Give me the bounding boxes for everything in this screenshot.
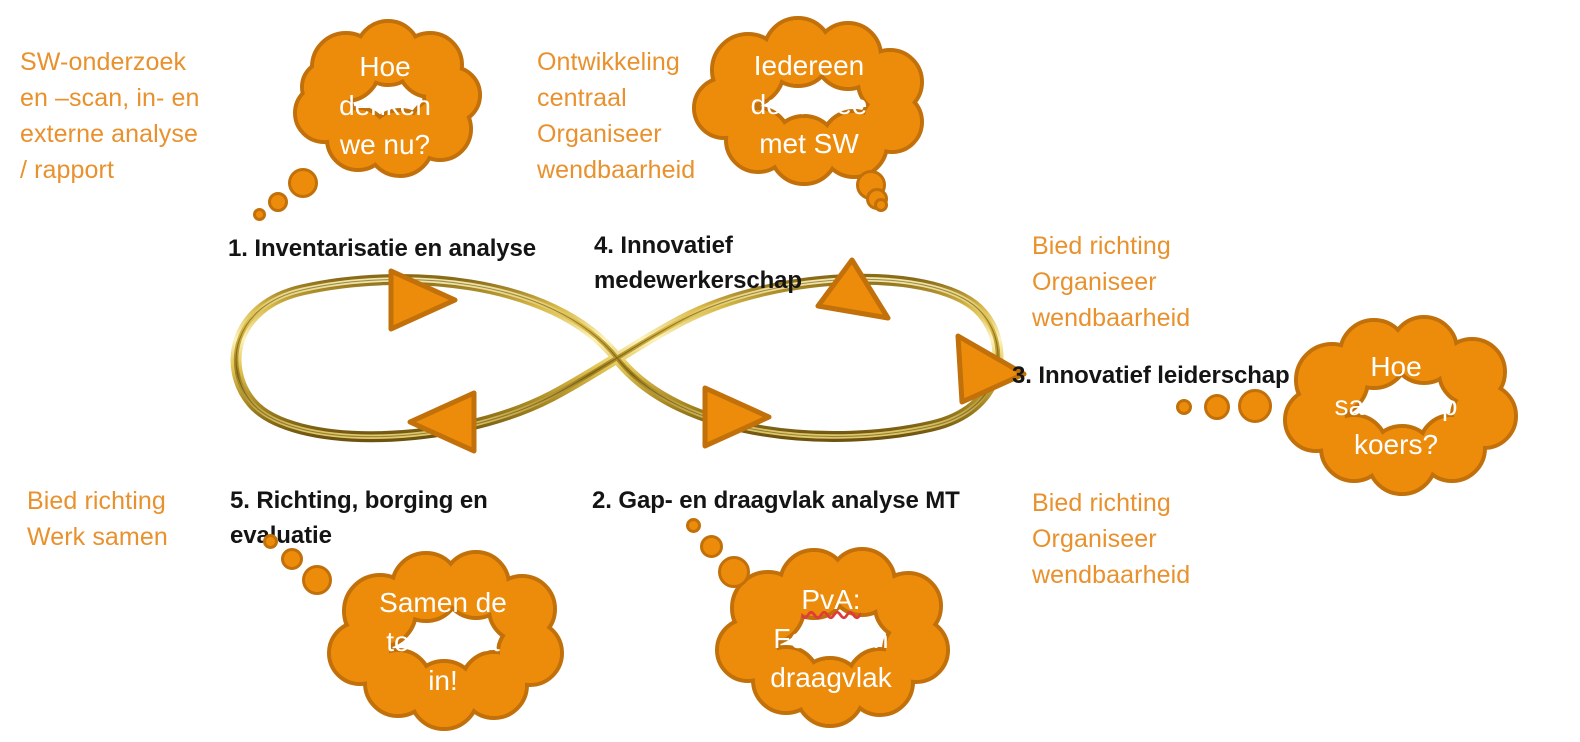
- thought-tail-dot-small: [263, 534, 278, 549]
- thought-tail-dot-medium: [700, 535, 723, 558]
- thought-bubble-hoe-denken-we-nu: Hoe denken we nu?: [288, 25, 482, 185]
- note-bied-richting-bottom-left: Bied richting Werk samen: [27, 483, 227, 555]
- thought-tail-dot-medium: [281, 548, 303, 570]
- slide-canvas: SW-onderzoek en –scan, in- en externe an…: [0, 0, 1580, 742]
- note-bied-richting-bottom-right: Bied richting Organiseer wendbaarheid: [1032, 485, 1232, 593]
- note-sw-onderzoek: SW-onderzoek en –scan, in- en externe an…: [20, 44, 235, 188]
- thought-bubble-hoe-samen-op-koers: Hoe samen op koers?: [1272, 318, 1520, 493]
- thought-tail-dot-medium: [268, 192, 288, 212]
- thought-tail-dot-small: [686, 518, 701, 533]
- arrow-right-top-left: [386, 266, 460, 334]
- step-label-1-inventarisatie: 1. Inventarisatie en analyse: [228, 231, 558, 266]
- thought-bubble-iedereen-doet-mee: Iedereen doet mee met SW: [686, 22, 932, 187]
- step-label-4-innovatief-medewerkerschap: 4. Innovatief medewerkerschap: [594, 228, 854, 298]
- thought-tail-dot-small: [1176, 399, 1192, 415]
- thought-tail-dot-large: [302, 565, 332, 595]
- arrow-left-bottom-left: [405, 388, 479, 456]
- thought-bubble-samen-de-toekomst-in: Samen de toekomst in!: [318, 553, 568, 729]
- thought-tail-dot-large: [288, 168, 318, 198]
- thought-tail-dot-large: [1238, 389, 1272, 423]
- thought-tail-dot-small: [874, 198, 888, 212]
- step-label-3-innovatief-leiderschap: 3. Innovatief leiderschap: [1012, 358, 1312, 393]
- thought-tail-dot-small: [253, 208, 266, 221]
- thought-tail-dot-large: [718, 556, 750, 588]
- thought-tail-dot-medium: [1204, 394, 1230, 420]
- arrow-right-bottom-center: [700, 383, 774, 451]
- step-label-2-gap-draagvlak-analyse: 2. Gap- en draagvlak analyse MT: [592, 483, 992, 518]
- note-bied-richting-top-right: Bied richting Organiseer wendbaarheid: [1032, 228, 1232, 336]
